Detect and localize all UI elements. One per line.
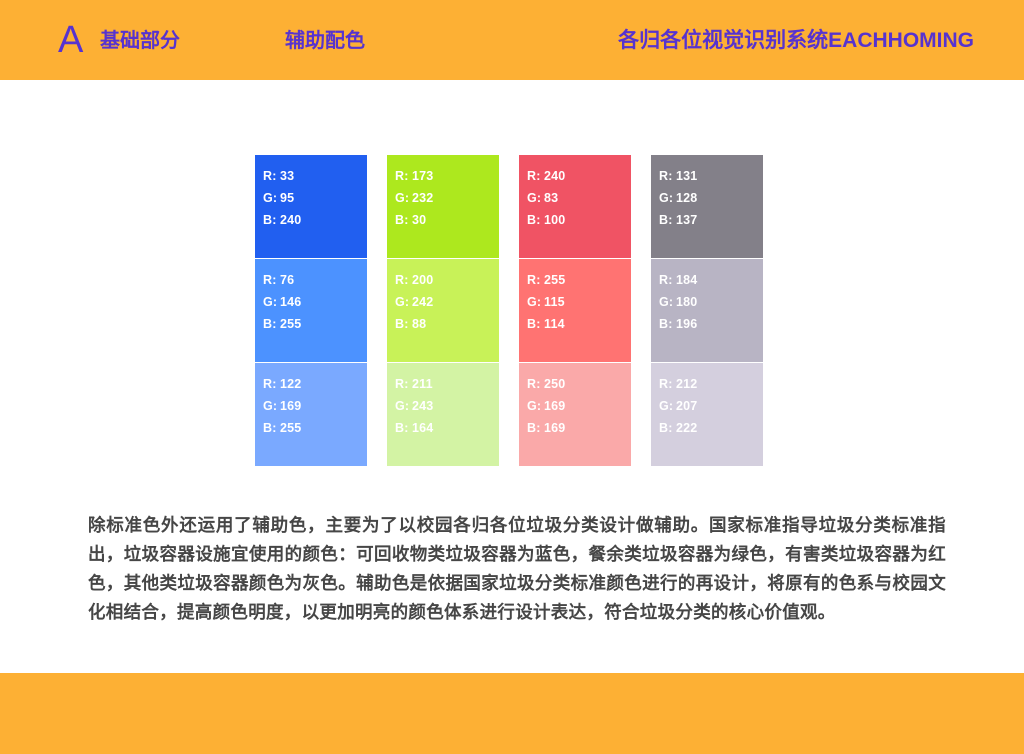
channel-value: 33 <box>280 169 294 183</box>
color-palette-grid: R:33G:95B:240R:173G:232B:30R:240G:83B:10… <box>255 155 763 466</box>
swatch-channel-b: B:30 <box>395 209 499 231</box>
swatch-channel-b: B:169 <box>527 417 631 439</box>
channel-label: B: <box>659 209 676 231</box>
channel-value: 240 <box>544 169 565 183</box>
channel-label: B: <box>527 313 544 335</box>
swatch-channel-r: R:212 <box>659 373 763 395</box>
channel-label: B: <box>395 313 412 335</box>
swatch-channel-r: R:240 <box>527 165 631 187</box>
channel-label: B: <box>527 417 544 439</box>
channel-value: 146 <box>280 295 301 309</box>
channel-value: 122 <box>280 377 301 391</box>
channel-label: B: <box>395 417 412 439</box>
channel-value: 169 <box>280 399 301 413</box>
channel-value: 83 <box>544 191 558 205</box>
channel-label: G: <box>659 291 676 313</box>
channel-value: 242 <box>412 295 433 309</box>
top-banner: A 基础部分 辅助配色 各归各位视觉识别系统EACHHOMING <box>0 0 1024 80</box>
color-swatch: R:122G:169B:255 <box>255 363 367 466</box>
swatch-channel-r: R:250 <box>527 373 631 395</box>
swatch-channel-g: G:128 <box>659 187 763 209</box>
system-title: 各归各位视觉识别系统EACHHOMING <box>618 28 974 54</box>
channel-label: B: <box>395 209 412 231</box>
channel-value: 232 <box>412 191 433 205</box>
channel-value: 137 <box>676 213 697 227</box>
channel-value: 184 <box>676 273 697 287</box>
channel-label: G: <box>659 395 676 417</box>
swatch-channel-b: B:240 <box>263 209 367 231</box>
color-swatch: R:240G:83B:100 <box>519 155 631 258</box>
channel-value: 180 <box>676 295 697 309</box>
swatch-channel-g: G:207 <box>659 395 763 417</box>
channel-value: 169 <box>544 399 565 413</box>
channel-value: 30 <box>412 213 426 227</box>
channel-label: R: <box>395 269 412 291</box>
swatch-channel-g: G:146 <box>263 291 367 313</box>
color-swatch: R:200G:242B:88 <box>387 259 499 362</box>
channel-value: 100 <box>544 213 565 227</box>
color-swatch: R:76G:146B:255 <box>255 259 367 362</box>
channel-value: 169 <box>544 421 565 435</box>
channel-label: R: <box>527 269 544 291</box>
bottom-banner <box>0 673 1024 754</box>
channel-value: 243 <box>412 399 433 413</box>
channel-value: 173 <box>412 169 433 183</box>
channel-value: 250 <box>544 377 565 391</box>
swatch-channel-r: R:33 <box>263 165 367 187</box>
channel-value: 88 <box>412 317 426 331</box>
channel-label: R: <box>263 269 280 291</box>
channel-label: G: <box>395 395 412 417</box>
channel-label: R: <box>263 373 280 395</box>
channel-value: 255 <box>280 317 301 331</box>
swatch-channel-g: G:95 <box>263 187 367 209</box>
channel-label: G: <box>395 187 412 209</box>
channel-value: 200 <box>412 273 433 287</box>
color-swatch: R:131G:128B:137 <box>651 155 763 258</box>
channel-label: G: <box>263 395 280 417</box>
color-swatch: R:255G:115B:114 <box>519 259 631 362</box>
channel-label: R: <box>659 165 676 187</box>
swatch-channel-r: R:200 <box>395 269 499 291</box>
channel-value: 115 <box>544 295 565 309</box>
channel-label: B: <box>263 417 280 439</box>
channel-label: R: <box>659 373 676 395</box>
swatch-channel-g: G:242 <box>395 291 499 313</box>
channel-label: R: <box>263 165 280 187</box>
color-swatch: R:250G:169B:169 <box>519 363 631 466</box>
swatch-channel-b: B:137 <box>659 209 763 231</box>
swatch-channel-b: B:100 <box>527 209 631 231</box>
swatch-channel-r: R:211 <box>395 373 499 395</box>
channel-label: B: <box>659 417 676 439</box>
description-paragraph: 除标准色外还运用了辅助色，主要为了以校园各归各位垃圾分类设计做辅助。国家标准指导… <box>88 511 946 627</box>
swatch-channel-g: G:115 <box>527 291 631 313</box>
channel-value: 128 <box>676 191 697 205</box>
subsection-label: 辅助配色 <box>285 28 365 54</box>
channel-value: 207 <box>676 399 697 413</box>
channel-value: 196 <box>676 317 697 331</box>
channel-value: 255 <box>544 273 565 287</box>
swatch-channel-b: B:114 <box>527 313 631 335</box>
channel-label: G: <box>527 187 544 209</box>
channel-value: 240 <box>280 213 301 227</box>
channel-label: R: <box>659 269 676 291</box>
swatch-channel-b: B:196 <box>659 313 763 335</box>
channel-value: 95 <box>280 191 294 205</box>
channel-label: R: <box>395 165 412 187</box>
channel-label: G: <box>263 291 280 313</box>
color-swatch: R:212G:207B:222 <box>651 363 763 466</box>
top-banner-content: A 基础部分 辅助配色 各归各位视觉识别系统EACHHOMING <box>0 0 1024 80</box>
channel-label: R: <box>395 373 412 395</box>
swatch-channel-r: R:255 <box>527 269 631 291</box>
channel-label: B: <box>263 313 280 335</box>
channel-label: G: <box>395 291 412 313</box>
color-swatch: R:184G:180B:196 <box>651 259 763 362</box>
swatch-channel-g: G:232 <box>395 187 499 209</box>
color-swatch: R:173G:232B:30 <box>387 155 499 258</box>
channel-value: 211 <box>412 377 433 391</box>
swatch-channel-b: B:164 <box>395 417 499 439</box>
section-label: 基础部分 <box>100 28 180 54</box>
swatch-channel-r: R:76 <box>263 269 367 291</box>
channel-label: G: <box>263 187 280 209</box>
swatch-channel-g: G:169 <box>527 395 631 417</box>
channel-value: 164 <box>412 421 433 435</box>
color-swatch: R:33G:95B:240 <box>255 155 367 258</box>
swatch-channel-b: B:222 <box>659 417 763 439</box>
section-letter-badge: A <box>58 18 83 62</box>
swatch-channel-b: B:255 <box>263 313 367 335</box>
swatch-channel-r: R:173 <box>395 165 499 187</box>
channel-value: 76 <box>280 273 294 287</box>
swatch-channel-b: B:255 <box>263 417 367 439</box>
swatch-channel-b: B:88 <box>395 313 499 335</box>
swatch-channel-r: R:122 <box>263 373 367 395</box>
channel-value: 212 <box>676 377 697 391</box>
channel-label: R: <box>527 165 544 187</box>
channel-label: B: <box>659 313 676 335</box>
swatch-channel-g: G:180 <box>659 291 763 313</box>
channel-value: 222 <box>676 421 697 435</box>
swatch-channel-g: G:83 <box>527 187 631 209</box>
channel-value: 131 <box>676 169 697 183</box>
channel-label: G: <box>527 395 544 417</box>
swatch-channel-g: G:243 <box>395 395 499 417</box>
channel-value: 114 <box>544 317 565 331</box>
channel-label: R: <box>527 373 544 395</box>
swatch-channel-g: G:169 <box>263 395 367 417</box>
channel-value: 255 <box>280 421 301 435</box>
channel-label: G: <box>659 187 676 209</box>
swatch-channel-r: R:184 <box>659 269 763 291</box>
channel-label: B: <box>527 209 544 231</box>
color-swatch: R:211G:243B:164 <box>387 363 499 466</box>
main-canvas: R:33G:95B:240R:173G:232B:30R:240G:83B:10… <box>0 80 1024 673</box>
channel-label: B: <box>263 209 280 231</box>
channel-label: G: <box>527 291 544 313</box>
swatch-channel-r: R:131 <box>659 165 763 187</box>
